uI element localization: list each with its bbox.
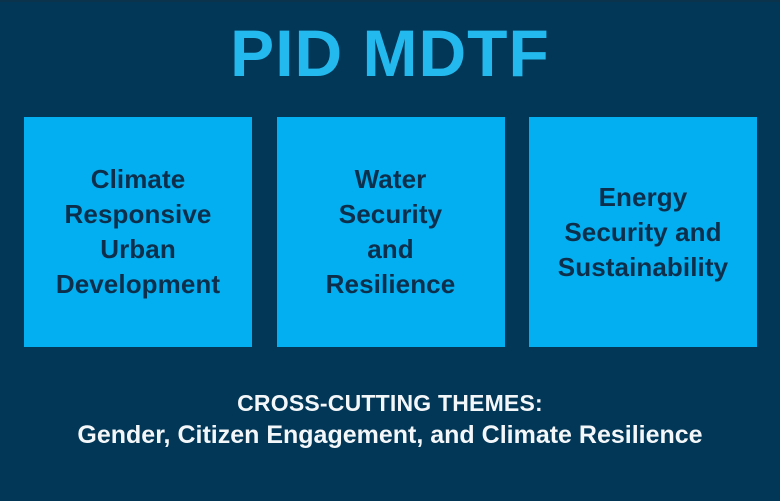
pillar-label-line: Resilience xyxy=(326,267,456,302)
pillar-label-line: Sustainability xyxy=(558,250,728,285)
pillar-card-water-security-and-resilience: Water Security and Resilience xyxy=(277,117,505,347)
pillar-label-line: and xyxy=(326,232,456,267)
page-title: PID MDTF xyxy=(0,20,780,86)
pillars-row: Climate Responsive Urban Development Wat… xyxy=(24,117,757,347)
pillar-label: Climate Responsive Urban Development xyxy=(56,162,220,302)
top-edge-divider xyxy=(0,0,780,2)
pillar-card-climate-responsive-urban-development: Climate Responsive Urban Development xyxy=(24,117,252,347)
pillar-label-line: Urban xyxy=(56,232,220,267)
cross-cutting-themes-heading: CROSS-CUTTING THEMES: xyxy=(0,388,780,418)
pillar-label: Energy Security and Sustainability xyxy=(558,180,728,285)
pillar-label: Water Security and Resilience xyxy=(326,162,456,302)
pillar-label-line: Security and xyxy=(558,215,728,250)
pillar-label-line: Climate xyxy=(56,162,220,197)
pillar-label-line: Security xyxy=(326,197,456,232)
pillar-label-line: Responsive xyxy=(56,197,220,232)
pillar-label-line: Energy xyxy=(558,180,728,215)
cross-cutting-themes: CROSS-CUTTING THEMES: Gender, Citizen En… xyxy=(0,388,780,452)
cross-cutting-themes-list: Gender, Citizen Engagement, and Climate … xyxy=(0,418,780,452)
pid-mdtf-infographic: PID MDTF Climate Responsive Urban Develo… xyxy=(0,0,780,501)
pillar-card-energy-security-and-sustainability: Energy Security and Sustainability xyxy=(529,117,757,347)
pillar-label-line: Development xyxy=(56,267,220,302)
pillar-label-line: Water xyxy=(326,162,456,197)
